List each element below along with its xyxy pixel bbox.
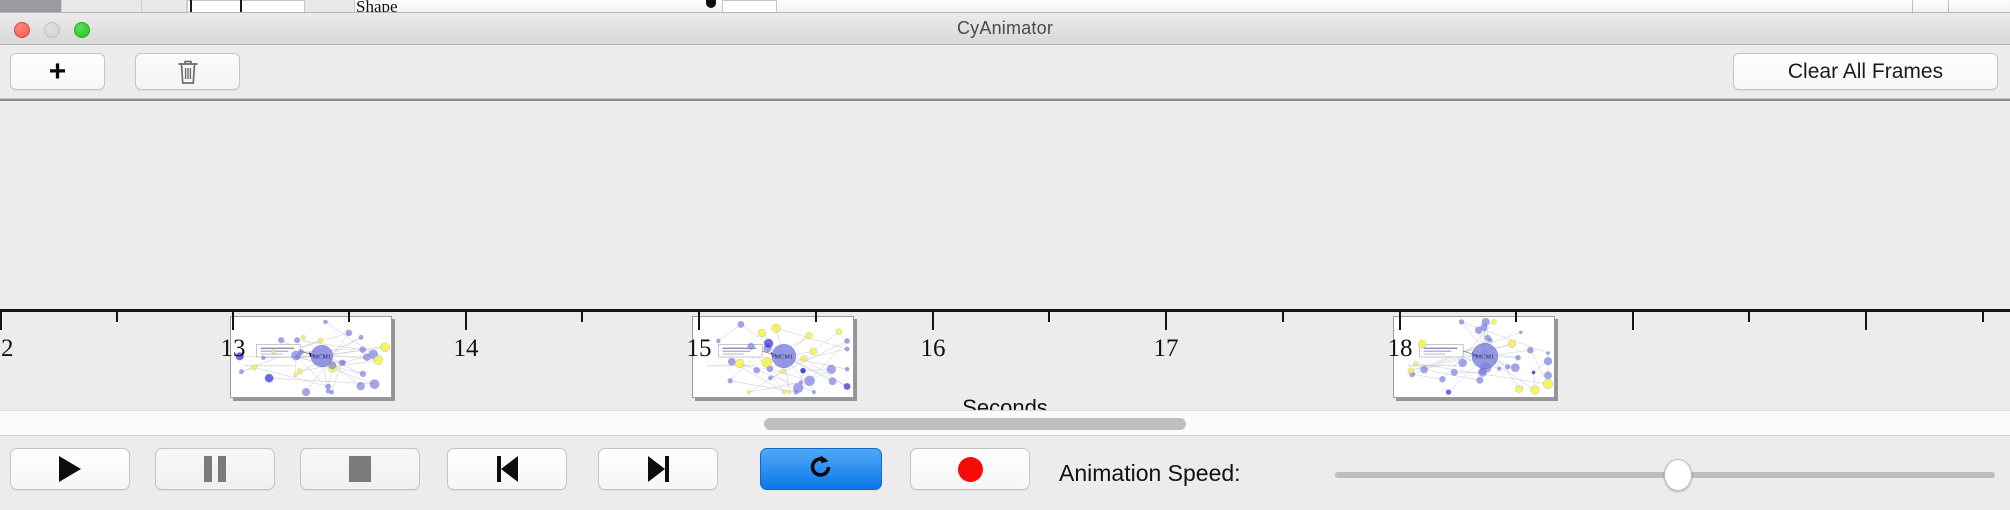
skip-previous-icon — [497, 456, 518, 482]
background-window-strip: Shape — [0, 0, 2010, 13]
timeline-panel[interactable]: MCM1MCM1MCM1 12131415161718 Seconds — [0, 99, 2010, 410]
ruler-tick — [0, 312, 2, 330]
ruler-tick — [1982, 312, 1984, 322]
loop-icon — [806, 452, 836, 487]
animation-speed-slider[interactable] — [1335, 472, 1995, 478]
ruler-tick — [581, 312, 583, 322]
playback-bar: Animation Speed: — [0, 436, 2010, 510]
ruler-tick — [698, 312, 700, 330]
next-frame-button[interactable] — [598, 448, 718, 490]
trash-icon — [176, 58, 200, 86]
add-frame-button[interactable]: + — [10, 53, 105, 90]
loop-button[interactable] — [760, 448, 882, 490]
window-title-bar[interactable]: CyAnimator — [0, 13, 2010, 45]
slider-knob[interactable] — [1664, 459, 1692, 491]
ruler-tick — [232, 312, 234, 330]
bg-segment — [62, 0, 142, 13]
ruler-tick-label: 18 — [1388, 335, 1413, 363]
timeline-ruler: 12131415161718 Seconds — [0, 309, 2010, 410]
stop-icon — [349, 456, 371, 482]
play-icon — [59, 456, 81, 482]
ruler-tick — [116, 312, 118, 322]
bg-window-label: Shape — [356, 0, 398, 13]
clear-all-frames-button[interactable]: Clear All Frames — [1733, 53, 1998, 90]
bg-tick — [190, 0, 192, 13]
plus-icon: + — [49, 57, 67, 87]
delete-frame-button[interactable] — [135, 53, 240, 90]
ruler-tick-label: 16 — [921, 335, 946, 363]
ruler-tick — [1748, 312, 1750, 322]
bg-tick — [1912, 0, 1913, 13]
bg-segment — [0, 0, 62, 13]
ruler-tick — [1865, 312, 1867, 330]
bg-segment — [187, 0, 305, 13]
ruler-tick-label: 12 — [0, 335, 14, 363]
pause-button[interactable] — [155, 448, 275, 490]
ruler-tick-label: 15 — [687, 335, 712, 363]
ruler-tick — [1515, 312, 1517, 322]
ruler-tick — [1399, 312, 1401, 330]
timeline-horizontal-scrollbar[interactable] — [0, 410, 2010, 436]
ruler-tick — [815, 312, 817, 322]
ruler-tick — [465, 312, 467, 330]
window-title: CyAnimator — [0, 18, 2010, 39]
bg-marker — [706, 0, 716, 8]
ruler-tick-label: 17 — [1154, 335, 1179, 363]
axis-title: Seconds — [0, 395, 2010, 410]
bg-segment — [722, 0, 777, 13]
ruler-tick — [1165, 312, 1167, 330]
record-button[interactable] — [910, 448, 1030, 490]
ruler-baseline — [0, 309, 2010, 312]
ruler-tick — [348, 312, 350, 322]
skip-next-icon — [648, 456, 669, 482]
play-button[interactable] — [10, 448, 130, 490]
frames-track[interactable]: MCM1MCM1MCM1 — [0, 101, 2010, 319]
bg-segment — [305, 0, 355, 13]
previous-frame-button[interactable] — [447, 448, 567, 490]
record-icon — [958, 457, 983, 482]
toolbar: + Clear All Frames — [0, 45, 2010, 99]
ruler-tick — [1282, 312, 1284, 322]
ruler-tick — [1632, 312, 1634, 330]
ruler-tick-label: 14 — [454, 335, 479, 363]
ruler-tick-label: 13 — [221, 335, 246, 363]
bg-segment — [142, 0, 187, 13]
ruler-tick — [932, 312, 934, 330]
bg-tick — [240, 0, 242, 13]
bg-tick — [1948, 0, 1949, 13]
scrollbar-thumb[interactable] — [764, 418, 1186, 430]
pause-icon — [204, 456, 226, 482]
stop-button[interactable] — [300, 448, 420, 490]
ruler-tick — [1048, 312, 1050, 322]
animation-speed-label: Animation Speed: — [1059, 460, 1241, 487]
